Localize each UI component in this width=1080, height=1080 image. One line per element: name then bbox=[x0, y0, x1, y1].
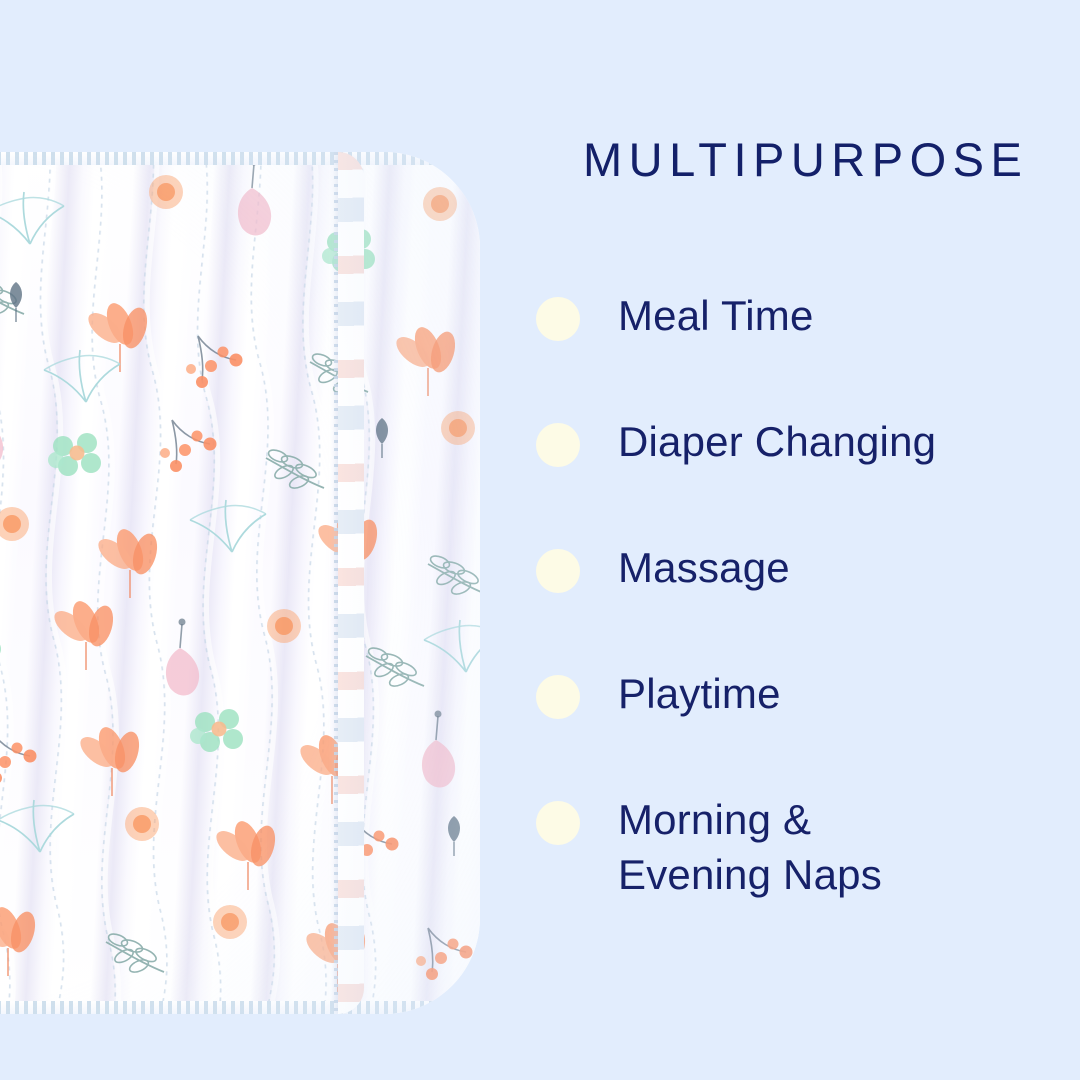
list-item: Meal Time bbox=[536, 288, 1056, 414]
feature-label: Massage bbox=[618, 544, 790, 591]
cloth-right-binding-edge bbox=[338, 152, 364, 1014]
marketing-canvas: MULTIPURPOSE Meal Time Diaper Changing M… bbox=[0, 0, 1080, 1080]
feature-label: Morning & Evening Naps bbox=[618, 796, 882, 898]
list-item: Morning & Evening Naps bbox=[536, 792, 1056, 902]
bullet-dot-icon bbox=[536, 675, 580, 719]
floral-print-pattern bbox=[0, 152, 480, 1014]
feature-label: Diaper Changing bbox=[618, 418, 936, 465]
bullet-dot-icon bbox=[536, 297, 580, 341]
cloth-bottom-stitched-edge bbox=[0, 1001, 480, 1014]
list-item: Massage bbox=[536, 540, 1056, 666]
list-item: Playtime bbox=[536, 666, 1056, 792]
cloth-top-stitched-edge bbox=[0, 152, 480, 165]
page-title: MULTIPURPOSE bbox=[583, 132, 1028, 187]
list-item: Diaper Changing bbox=[536, 414, 1056, 540]
bullet-dot-icon bbox=[536, 423, 580, 467]
bullet-dot-icon bbox=[536, 801, 580, 845]
bullet-dot-icon bbox=[536, 549, 580, 593]
feature-label: Meal Time bbox=[618, 292, 814, 339]
feature-list: Meal Time Diaper Changing Massage Playti… bbox=[536, 288, 1056, 902]
feature-label: Playtime bbox=[618, 670, 781, 717]
product-image bbox=[0, 152, 480, 1014]
